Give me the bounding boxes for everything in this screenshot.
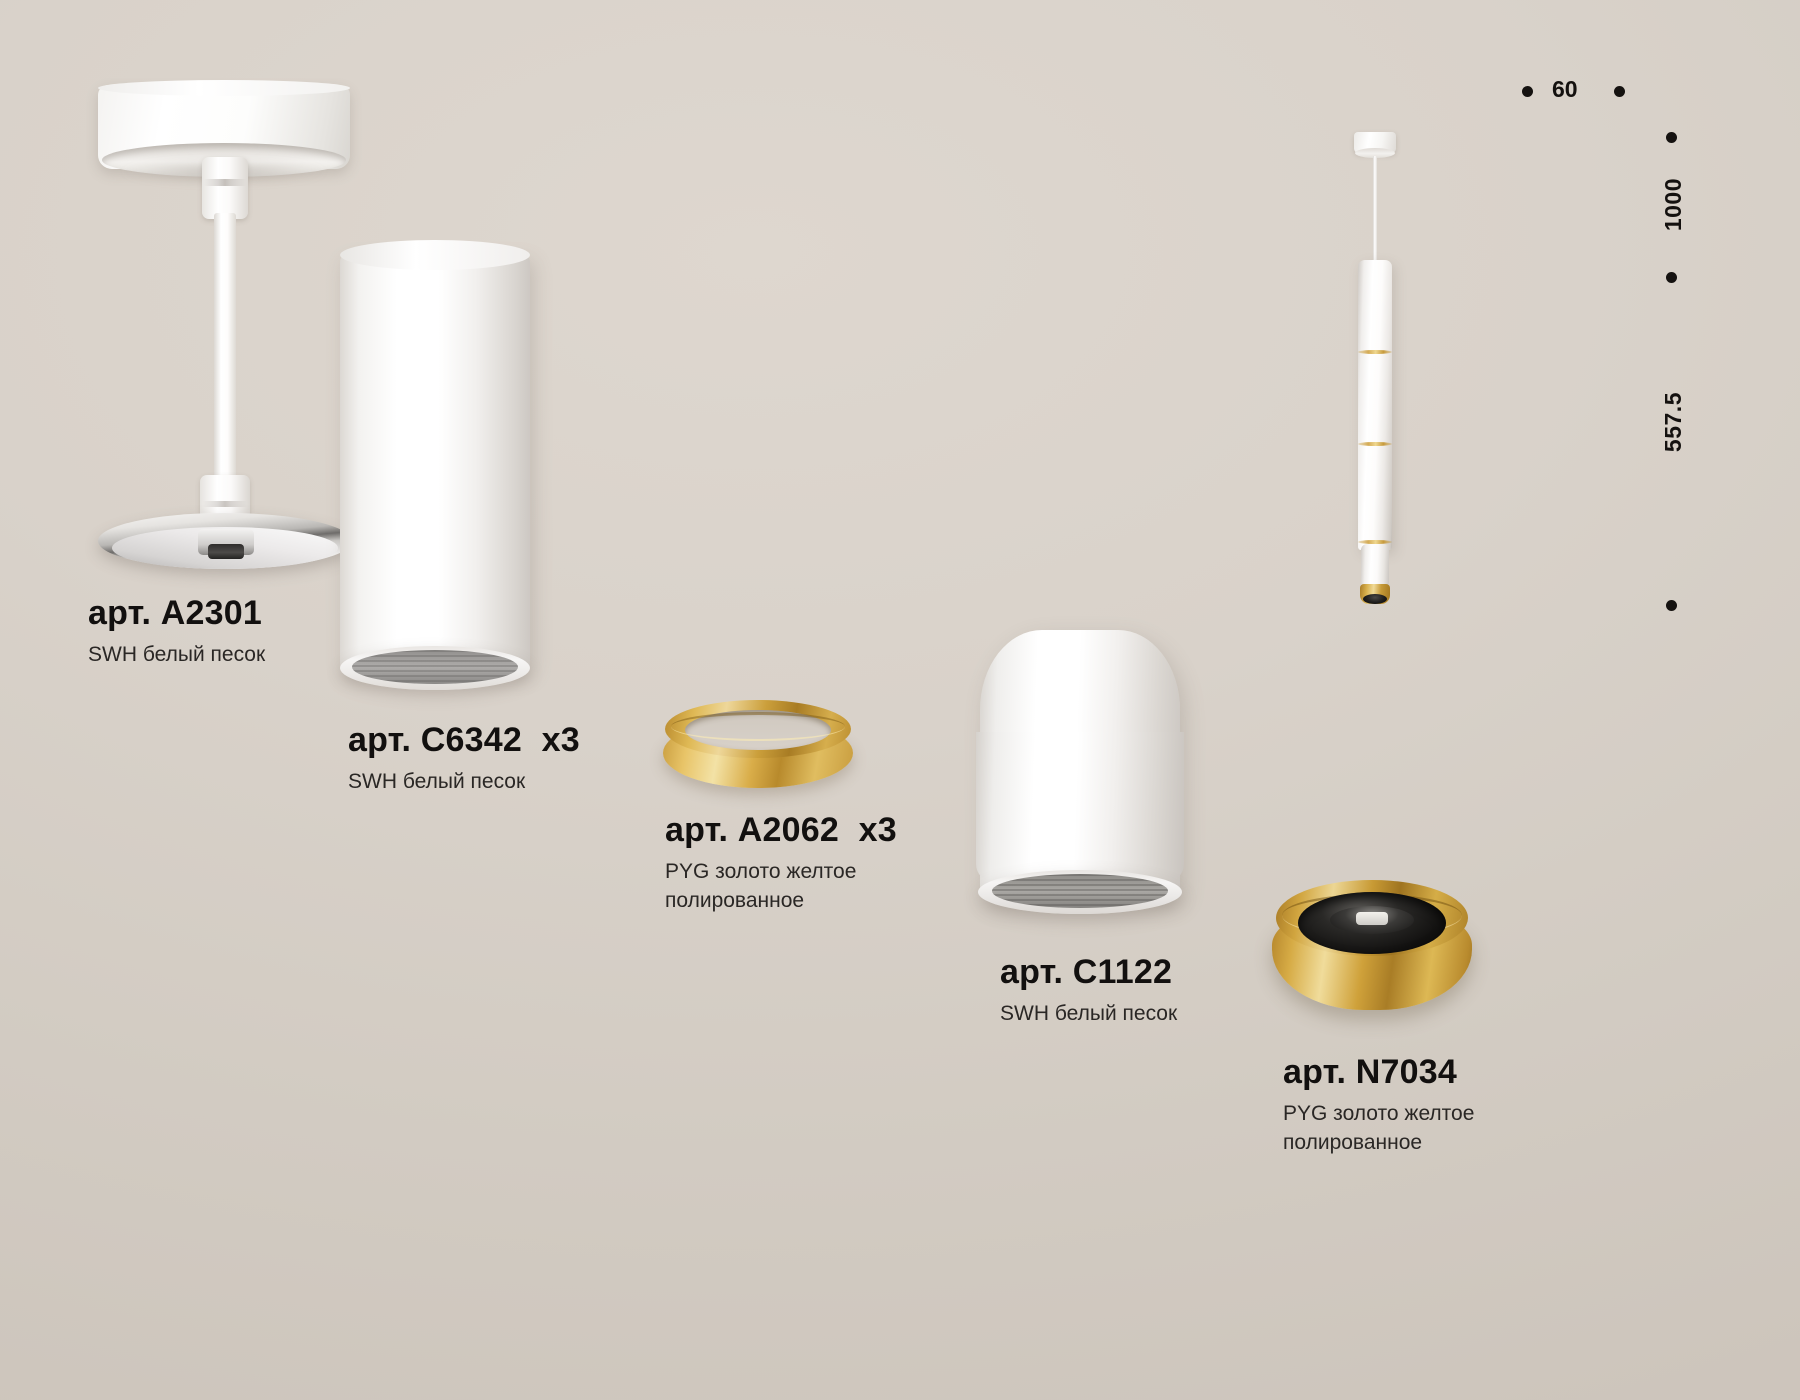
assembly-reflector-face xyxy=(1363,594,1387,604)
label-c1122-code: арт. C1122 xyxy=(1000,955,1177,991)
label-c6342-finish: SWH белый песок xyxy=(348,768,580,796)
n7034-led-window xyxy=(1356,912,1388,925)
assembly-gold-band-upper xyxy=(1358,350,1392,354)
label-n7034-finish-line2: полированное xyxy=(1283,1129,1474,1157)
label-c1122-prefix: арт. xyxy=(1000,953,1063,991)
label-c6342: арт. C6342 x3 SWH белый песок xyxy=(348,723,580,795)
dim-dot-length-bottom xyxy=(1666,600,1677,611)
label-c1122-finish: SWH белый песок xyxy=(1000,1000,1177,1028)
product-image-a2062 xyxy=(663,700,853,795)
label-n7034-prefix: арт. xyxy=(1283,1053,1346,1091)
assembly-tube-body xyxy=(1358,260,1392,550)
barrel-inner-threads xyxy=(992,874,1168,908)
dim-dot-width-left xyxy=(1522,86,1533,97)
cylinder-inner-threads xyxy=(352,650,518,684)
dim-dot-drop-bottom xyxy=(1666,272,1677,283)
label-a2301-code: арт. A2301 xyxy=(88,596,265,632)
label-c1122-article: C1122 xyxy=(1073,953,1172,991)
ceiling-cup-top xyxy=(98,80,350,96)
track-adapter-pin xyxy=(208,544,244,559)
assembly-suspension-wire xyxy=(1373,156,1377,262)
dim-dot-width-right xyxy=(1614,86,1625,97)
label-c1122: арт. C1122 SWH белый песок xyxy=(1000,955,1177,1027)
dim-dot-drop-top xyxy=(1666,132,1677,143)
assembly-gold-band-lower xyxy=(1358,442,1392,446)
product-diagram-stage: арт. A2301 SWH белый песок арт. C6342 x3… xyxy=(0,0,1800,1400)
label-c6342-article: C6342 xyxy=(421,721,522,759)
product-image-c6342 xyxy=(340,240,530,690)
label-a2062-qty: x3 xyxy=(859,811,897,849)
label-a2062-prefix: арт. xyxy=(665,811,728,849)
gold-ring-groove xyxy=(671,712,845,741)
cylinder-body xyxy=(340,254,530,672)
label-c6342-prefix: арт. xyxy=(348,721,411,759)
label-a2301-finish: SWH белый песок xyxy=(88,641,265,669)
suspension-rod xyxy=(214,213,236,483)
label-n7034-finish-line1: PYG золото желтое xyxy=(1283,1100,1474,1128)
label-a2301-prefix: арт. xyxy=(88,594,151,632)
cylinder-top-cap xyxy=(340,240,530,270)
label-c6342-code: арт. C6342 x3 xyxy=(348,723,580,759)
label-a2301: арт. A2301 SWH белый песок xyxy=(88,596,265,668)
label-n7034-article: N7034 xyxy=(1356,1053,1457,1091)
label-c6342-qty: x3 xyxy=(542,721,580,759)
label-a2301-article: A2301 xyxy=(161,594,262,632)
label-a2062: арт. A2062 x3 PYG золото желтое полирова… xyxy=(665,813,897,915)
label-n7034-code: арт. N7034 xyxy=(1283,1055,1474,1091)
cable-gland-upper xyxy=(202,157,248,219)
label-a2062-code: арт. A2062 x3 xyxy=(665,813,897,849)
product-image-assembled-pendant xyxy=(1340,132,1410,622)
label-a2062-article: A2062 xyxy=(738,811,839,849)
product-image-n7034 xyxy=(1272,880,1472,1025)
label-a2062-finish-line1: PYG золото желтое xyxy=(665,858,897,886)
product-image-c1122 xyxy=(980,612,1180,922)
dim-fixture-length-value: 557.5 xyxy=(1660,392,1687,452)
label-a2062-finish-line2: полированное xyxy=(665,887,897,915)
barrel-waist xyxy=(976,732,1184,882)
label-n7034: арт. N7034 PYG золото желтое полированно… xyxy=(1283,1055,1474,1157)
dim-drop-value: 1000 xyxy=(1660,178,1687,231)
dim-width-value: 60 xyxy=(1552,76,1578,103)
product-image-a2301 xyxy=(90,85,360,565)
